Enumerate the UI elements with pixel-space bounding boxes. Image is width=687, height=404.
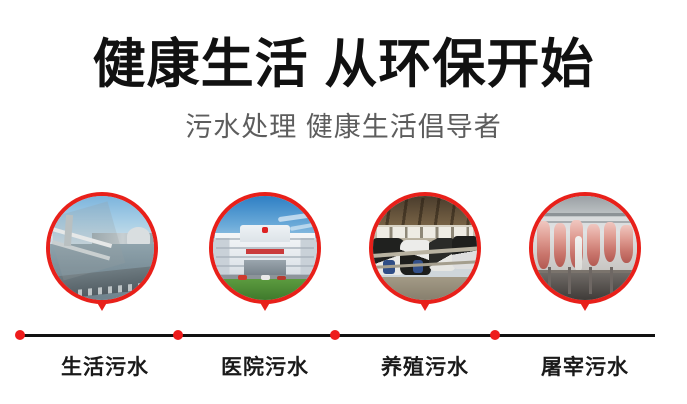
- category-pin-hospital[interactable]: [209, 192, 321, 304]
- page-title: 健康生活 从环保开始: [0, 34, 687, 96]
- pin-circle-livestock: [369, 192, 481, 304]
- category-label-slaughterhouse: 屠宰污水: [485, 355, 685, 381]
- slaughterhouse-photo: [533, 196, 637, 300]
- banner-root: 健康生活 从环保开始 污水处理 健康生活倡导者: [0, 0, 687, 404]
- timeline-dot-domestic: [15, 330, 25, 340]
- category-pin-livestock[interactable]: [369, 192, 481, 304]
- category-pin-slaughterhouse[interactable]: [529, 192, 641, 304]
- sewage-plant-photo: [50, 196, 154, 300]
- hospital-photo: [213, 196, 317, 300]
- timeline-dot-slaughterhouse: [490, 330, 500, 340]
- timeline-dot-livestock: [330, 330, 340, 340]
- pin-circle-slaughterhouse: [529, 192, 641, 304]
- cow-barn-photo: [373, 196, 477, 300]
- page-subtitle: 污水处理 健康生活倡导者: [0, 110, 687, 144]
- timeline-dot-hospital: [173, 330, 183, 340]
- pin-circle-hospital: [209, 192, 321, 304]
- red-cross-icon: [262, 227, 268, 233]
- category-pin-domestic[interactable]: [46, 192, 158, 304]
- pin-circle-domestic: [46, 192, 158, 304]
